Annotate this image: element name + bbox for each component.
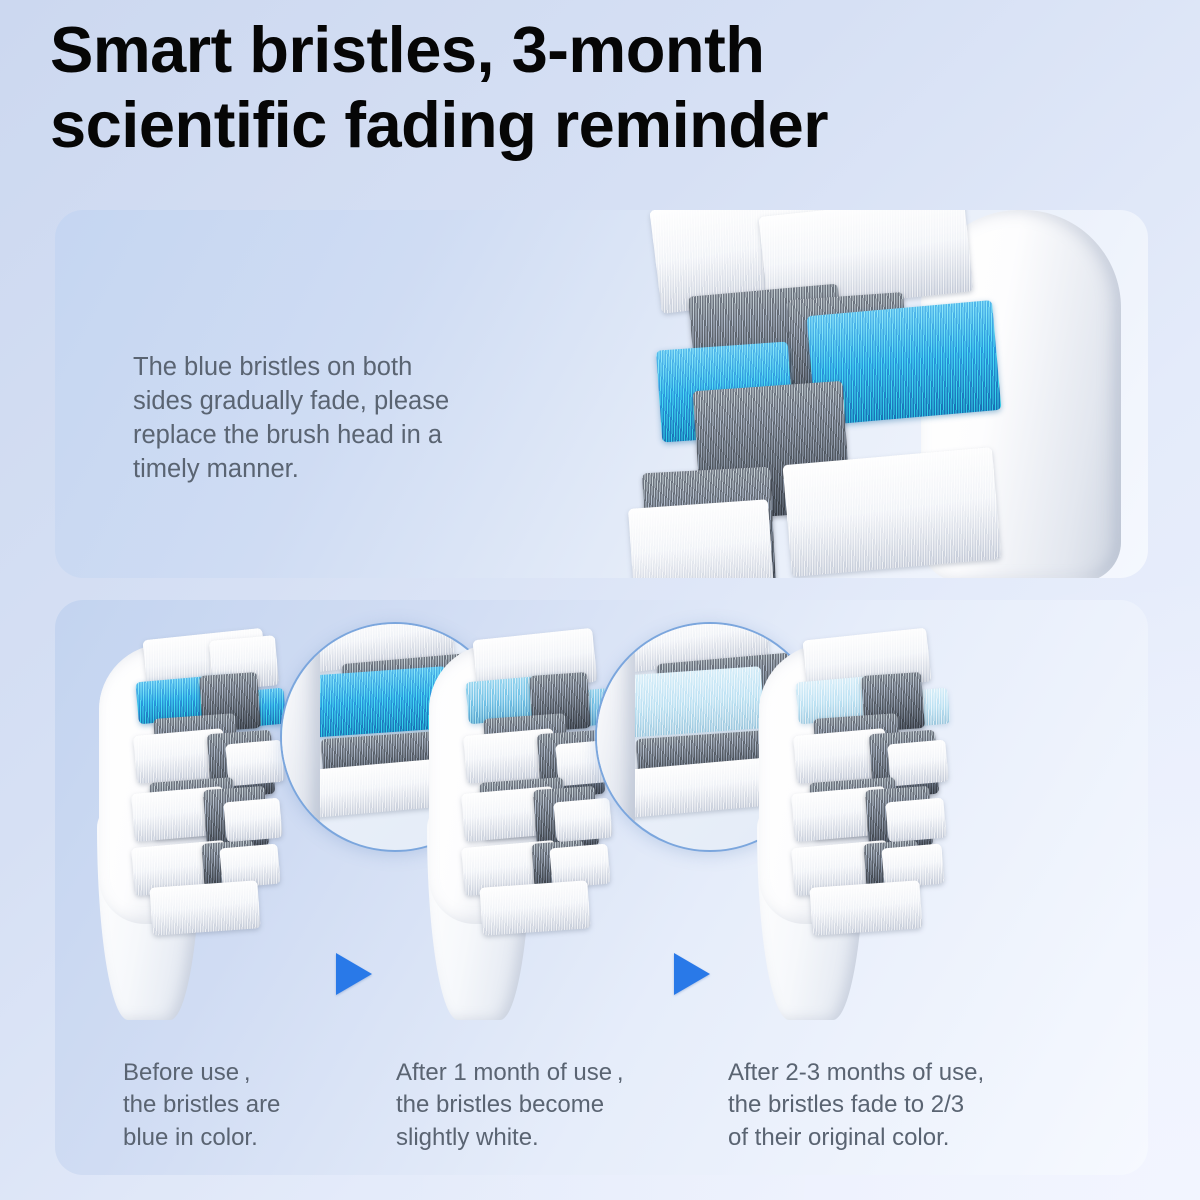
stages-card: Before use , the bristles are blue in co… (55, 600, 1148, 1175)
page-title-line-1: Smart bristles, 3-month (50, 12, 1050, 87)
stage-caption-line-2: the bristles fade to 2/3 (728, 1089, 1038, 1121)
stage-caption-line-1: After 1 month of use , (396, 1057, 686, 1089)
page-title: Smart bristles, 3-month scientific fadin… (50, 12, 1050, 163)
bristle-tuft-white (885, 798, 946, 843)
page-title-line-2: scientific fading reminder (50, 87, 1050, 162)
hero-description: The blue bristles on both sides graduall… (133, 350, 513, 487)
play-triangle-icon-2 (674, 953, 710, 995)
stage-caption-after-1-month: After 1 month of use , the bristles beco… (396, 1057, 686, 1154)
hero-card: The blue bristles on both sides graduall… (55, 210, 1148, 578)
hero-brush-head-image (615, 210, 1148, 578)
stage-caption-line-1: After 2-3 months of use, (728, 1057, 1038, 1089)
hero-description-line-1: The blue bristles on both (133, 350, 513, 384)
stage-caption-after-2-3-months: After 2-3 months of use, the bristles fa… (728, 1057, 1038, 1154)
hero-description-line-4: timely manner. (133, 452, 513, 486)
stage-caption-line-2: the bristles become (396, 1089, 686, 1121)
stage-caption-line-3: of their original color. (728, 1122, 1038, 1154)
bristle-tuft-white (225, 740, 284, 787)
bristle-tuft-white (628, 499, 774, 578)
stage-caption-line-2: the bristles are (123, 1089, 383, 1121)
bristle-tuft-white (809, 880, 922, 936)
stage-caption-before-use: Before use , the bristles are blue in co… (123, 1057, 383, 1154)
bristle-tuft-white (223, 798, 282, 843)
bristle-tuft-white (149, 880, 260, 935)
bristle-tuft-white (783, 447, 1002, 577)
bristle-tuft-white (887, 740, 948, 787)
stage-brush-head-after-2-3-months (731, 620, 1011, 1020)
hero-description-line-3: replace the brush head in a (133, 418, 513, 452)
hero-description-line-2: sides gradually fade, please (133, 384, 513, 418)
play-triangle-icon-1 (336, 953, 372, 995)
stage-caption-line-1: Before use , (123, 1057, 383, 1089)
brush-head-body (280, 622, 320, 852)
stage-caption-line-3: slightly white. (396, 1122, 686, 1154)
brush-head-body (595, 622, 635, 852)
stage-caption-line-3: blue in color. (123, 1122, 383, 1154)
bristle-tuft-white (479, 880, 590, 935)
